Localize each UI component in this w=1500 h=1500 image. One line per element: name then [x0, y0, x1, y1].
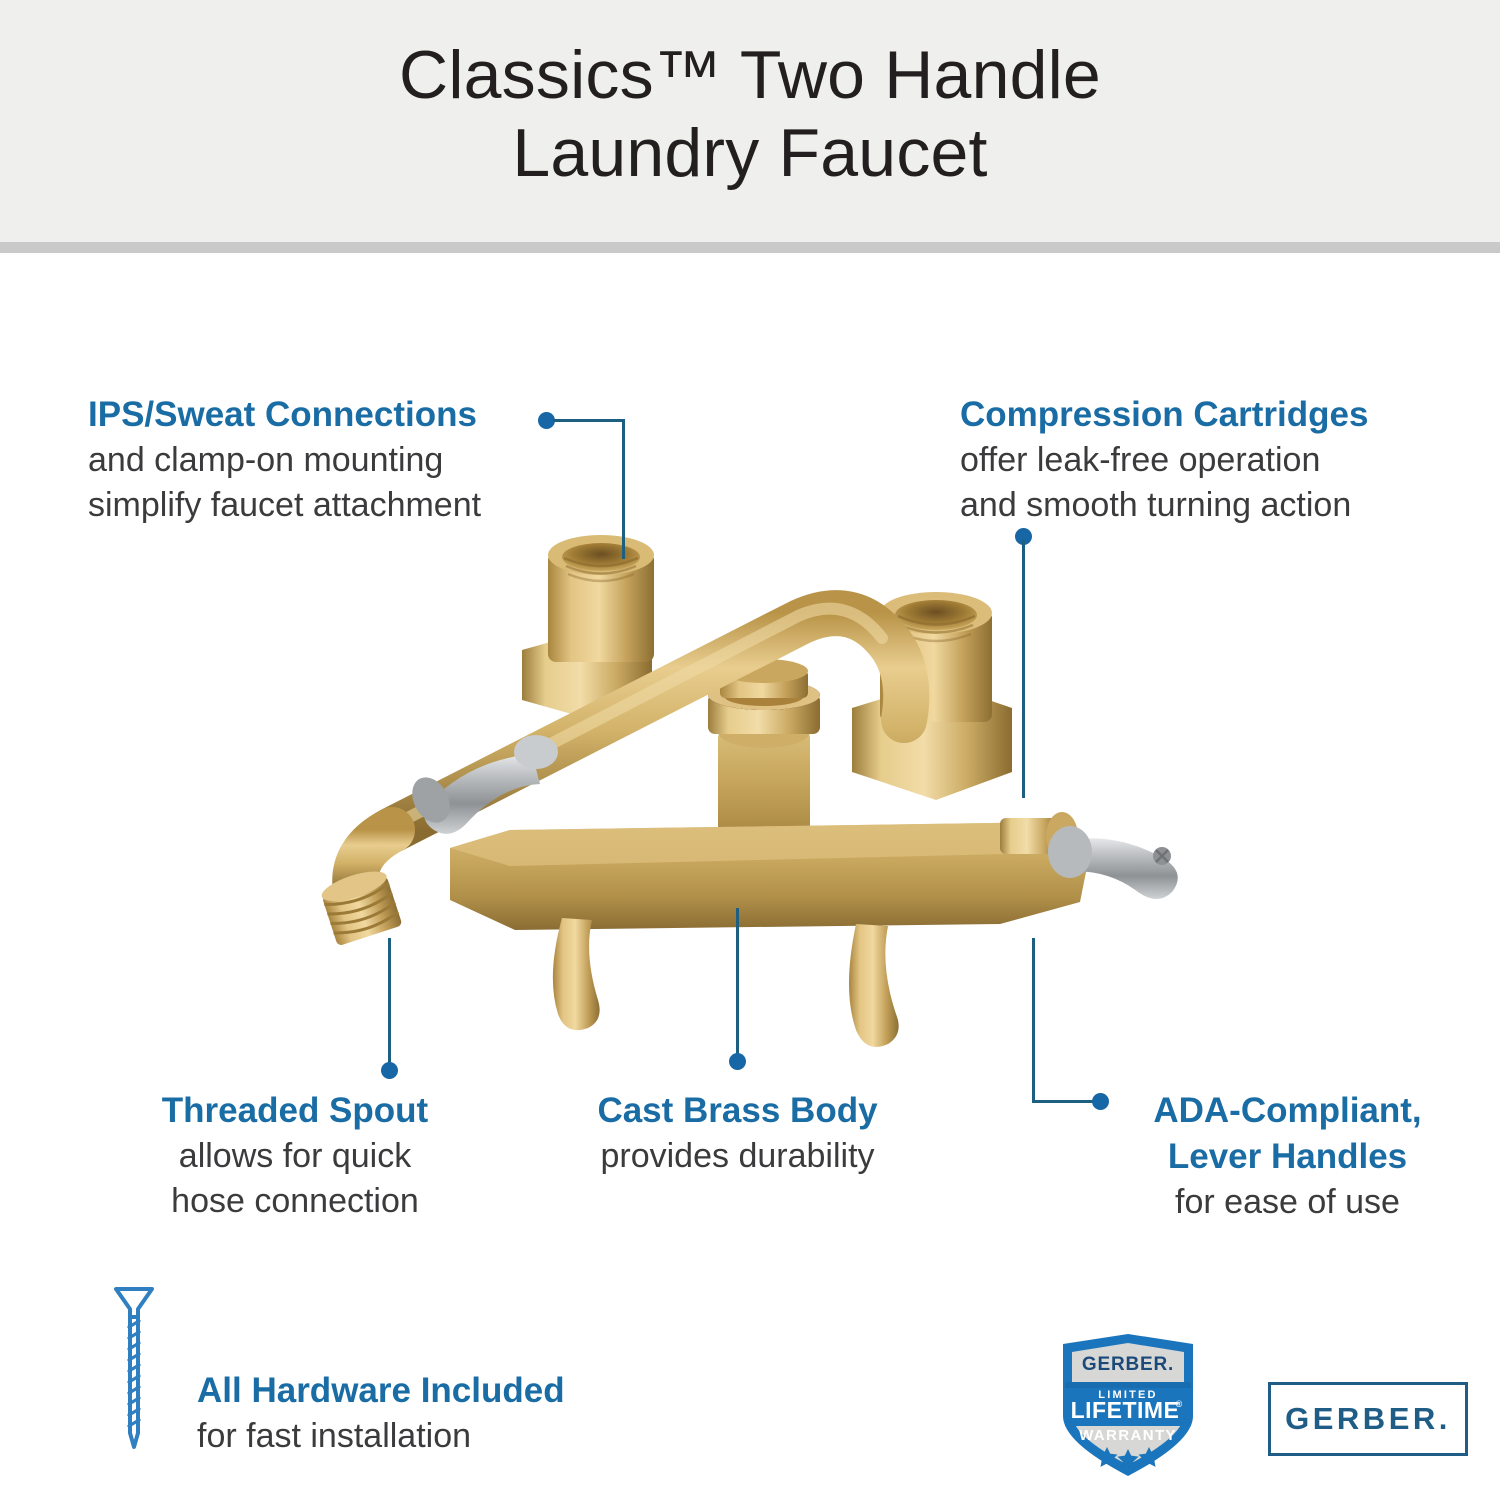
callout-ips-heading: IPS/Sweat Connections — [88, 392, 481, 438]
callout-cartridge-body-line-1: offer leak-free operation — [960, 438, 1368, 483]
leader-dot-spout — [381, 1062, 398, 1079]
badge-brand: GERBER. — [1082, 1354, 1174, 1375]
callout-hardware-heading: All Hardware Included — [197, 1368, 565, 1414]
gerber-wordmark: GERBER. — [1285, 1401, 1451, 1437]
header-divider — [0, 242, 1500, 253]
callout-cartridge-heading: Compression Cartridges — [960, 392, 1368, 438]
product-image — [300, 500, 1200, 1060]
callout-compression-cartridges: Compression Cartridges offer leak-free o… — [960, 392, 1368, 528]
callout-cast-brass-body: Cast Brass Body provides durability — [565, 1088, 910, 1179]
callout-all-hardware-included: All Hardware Included for fast installat… — [197, 1368, 565, 1459]
page-title-line2: Laundry Faucet — [0, 114, 1500, 192]
gerber-logo: GERBER. — [1268, 1382, 1468, 1456]
leader-line-body — [736, 908, 739, 1060]
leader-line-handles-vertical — [1032, 938, 1035, 1103]
callout-ips-body-line-1: and clamp-on mounting — [88, 438, 481, 483]
cast-brass-body — [450, 822, 1090, 930]
lifetime-warranty-badge: GERBER. LIMITED LIFETIME ® WARRANTY — [1053, 1330, 1203, 1480]
callout-threaded-spout: Threaded Spout allows for quick hose con… — [140, 1088, 450, 1224]
leader-dot-body — [729, 1053, 746, 1070]
callout-body-heading: Cast Brass Body — [565, 1088, 910, 1134]
callout-handles-heading-line-1: ADA-Compliant, — [1130, 1088, 1445, 1134]
callout-cartridge-body-line-2: and smooth turning action — [960, 483, 1368, 528]
callout-body-body-line-1: provides durability — [565, 1134, 910, 1179]
lever-handle-left — [405, 735, 558, 834]
leader-line-ips-vertical — [622, 419, 625, 559]
leader-dot-handles — [1092, 1093, 1109, 1110]
callout-hardware-body-line-1: for fast installation — [197, 1414, 565, 1459]
leader-line-cartridge — [1022, 540, 1025, 798]
leader-line-handles-horizontal — [1032, 1100, 1097, 1103]
callout-handles-body-line-1: for ease of use — [1130, 1180, 1445, 1225]
screw-icon — [108, 1283, 160, 1461]
badge-lifetime: LIFETIME — [1071, 1397, 1180, 1423]
callout-spout-body-line-1: allows for quick — [140, 1134, 450, 1179]
callout-spout-body-line-2: hose connection — [140, 1179, 450, 1224]
page-title: Classics™ Two Handle Laundry Faucet — [0, 36, 1500, 192]
badge-warranty: WARRANTY — [1079, 1427, 1177, 1444]
page-title-line1: Classics™ Two Handle — [399, 37, 1101, 113]
leader-line-ips-horizontal — [553, 419, 625, 422]
leader-line-spout — [388, 938, 391, 1068]
callout-ips-body-line-2: simplify faucet attachment — [88, 483, 481, 528]
callout-ada-lever-handles: ADA-Compliant, Lever Handles for ease of… — [1130, 1088, 1445, 1225]
callout-ips-sweat-connections: IPS/Sweat Connections and clamp-on mount… — [88, 392, 481, 528]
callout-spout-heading: Threaded Spout — [140, 1088, 450, 1134]
mounting-legs — [553, 918, 899, 1047]
badge-registered-mark: ® — [1176, 1399, 1183, 1409]
faucet-illustration — [300, 500, 1200, 1060]
callout-handles-heading-line-2: Lever Handles — [1130, 1134, 1445, 1180]
product-infographic: Classics™ Two Handle Laundry Faucet — [0, 0, 1500, 1500]
